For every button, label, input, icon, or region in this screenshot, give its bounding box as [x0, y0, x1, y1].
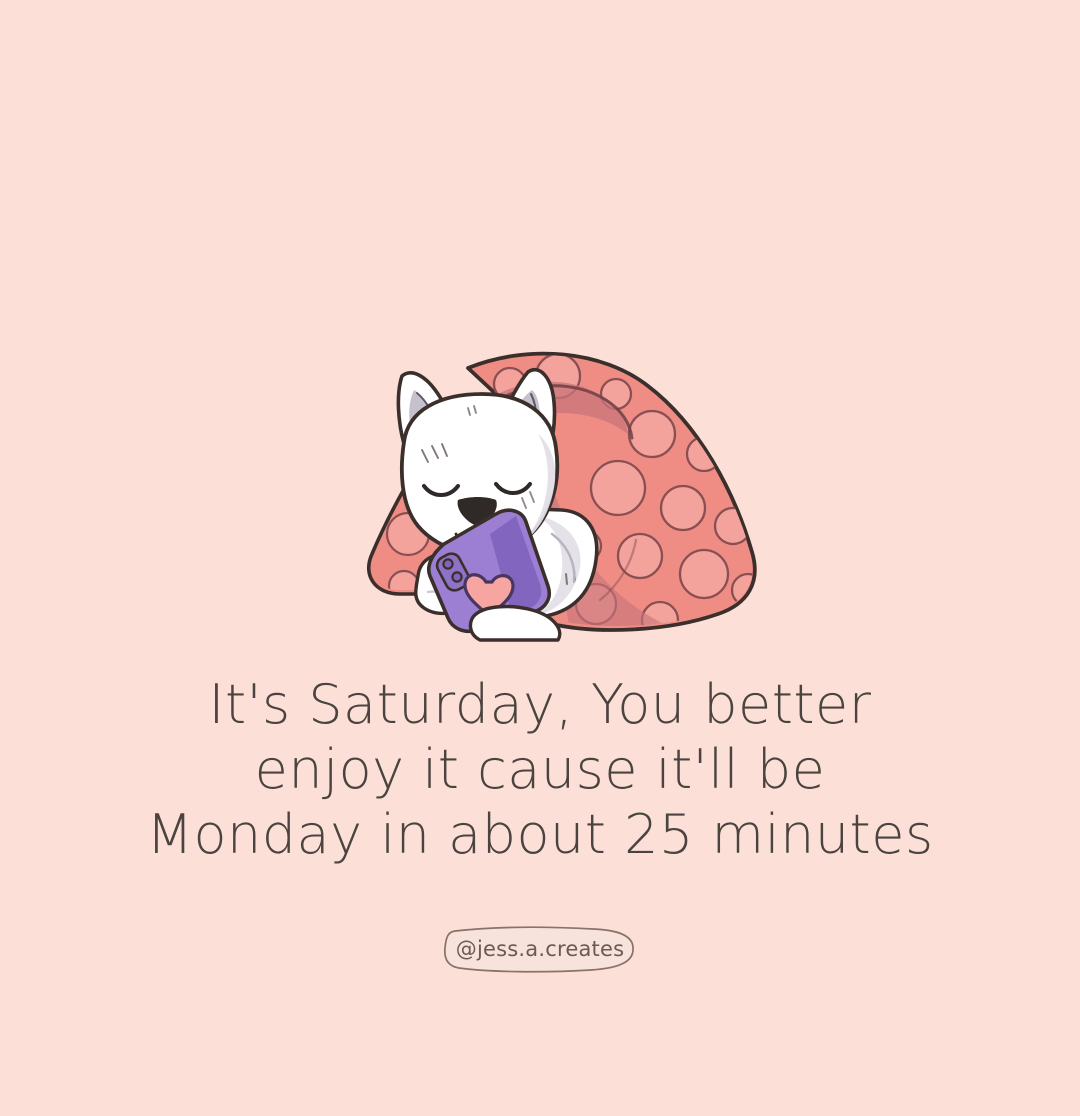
sleepy-cat-illustration — [300, 338, 780, 648]
quote-card: It's Saturday, You better enjoy it cause… — [0, 0, 1080, 1116]
quote-text: It's Saturday, You better enjoy it cause… — [0, 672, 1080, 867]
handle-label: @jess.a.creates — [456, 939, 624, 960]
quote-line-1: It's Saturday, You better — [0, 672, 1080, 737]
quote-line-2: enjoy it cause it'll be — [0, 737, 1080, 802]
handle-badge[interactable]: @jess.a.creates — [441, 925, 639, 973]
quote-line-3: Monday in about 25 minutes — [0, 802, 1080, 867]
